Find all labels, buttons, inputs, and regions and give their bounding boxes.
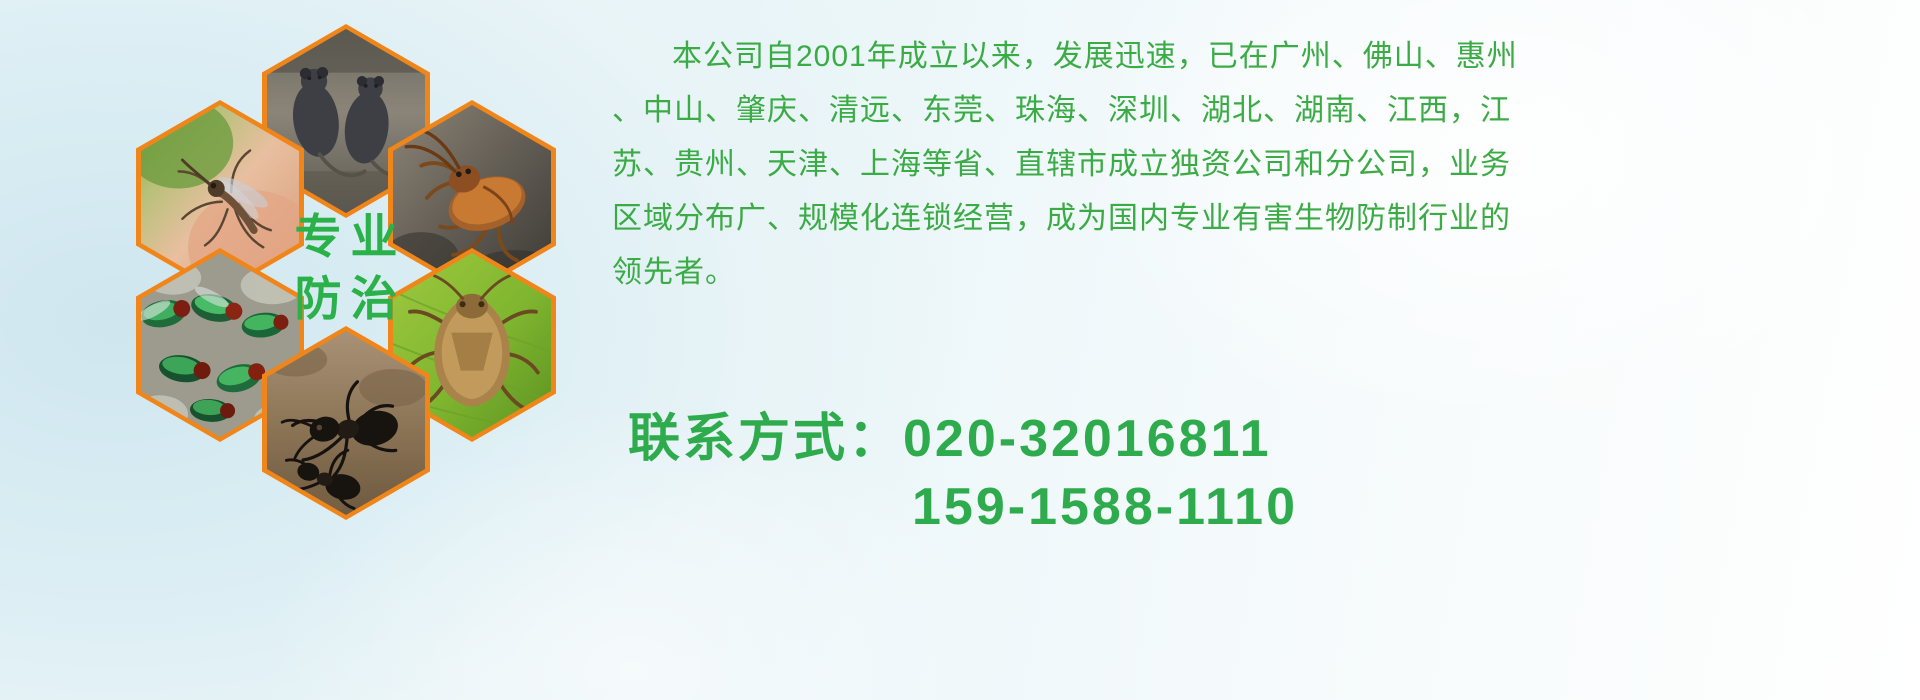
company-intro-paragraph: 本公司自2001年成立以来，发展迅速，已在广州、佛山、惠州 、中山、肇庆、清远、… — [612, 30, 1902, 300]
intro-line-4: 区域分布广、规模化连锁经营，成为国内专业有害生物防制行业的 — [612, 192, 1902, 246]
intro-line-3: 苏、贵州、天津、上海等省、直辖市成立独资公司和分公司，业务 — [612, 138, 1902, 192]
intro-line-2: 、中山、肇庆、清远、东莞、珠海、深圳、湖北、湖南、江西，江 — [612, 84, 1902, 138]
intro-line-1-text: 本公司自2001年成立以来，发展迅速，已在广州、佛山、惠州 — [672, 40, 1518, 73]
contact-block: 联系方式：020-32016811 159-1588-1110 — [628, 405, 1298, 541]
hex-photo-cluster: 专业 防治 — [92, 8, 592, 568]
hex-cell-ants-inner — [267, 331, 425, 515]
contact-phone-landline[interactable]: 联系方式：020-32016811 — [628, 405, 1298, 473]
pest-control-banner: 专业 防治 本公司自2001年成立以来，发展迅速，已在广州、佛山、惠州 、中山、… — [0, 0, 1920, 700]
intro-line-5: 领先者。 — [612, 246, 1902, 300]
intro-line-1: 本公司自2001年成立以来，发展迅速，已在广州、佛山、惠州 — [612, 30, 1902, 84]
ants-photo-icon — [267, 331, 425, 515]
contact-phone-mobile[interactable]: 159-1588-1110 — [628, 473, 1298, 541]
